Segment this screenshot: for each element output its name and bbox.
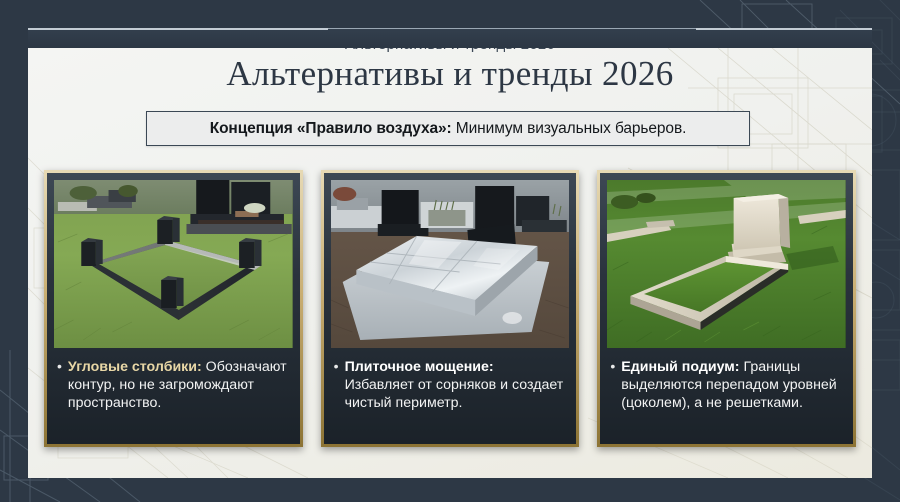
caption-text: Избавляет от сорняков и создает чистый п… [345, 377, 564, 411]
caption-body: Единый подиум: Границы выделяются перепа… [621, 358, 841, 413]
card-tiled-paving[interactable]: • Плиточное мощение: Избавляет от сорняк… [321, 170, 580, 447]
bullet-icon: • [57, 358, 62, 376]
slide-top-band [28, 28, 872, 48]
caption-lead: Плиточное мощение: [345, 359, 494, 375]
card-grid: • Угловые столбики: Обозначают контур, н… [44, 170, 856, 447]
slide-viewer: Альтернативы и тренды 2026 Альтернативы … [0, 0, 900, 502]
caption-lead: Угловые столбики: [68, 359, 202, 375]
caption-body: Угловые столбики: Обозначают контур, но … [68, 358, 288, 413]
concept-lead: Концепция «Правило воздуха»: [210, 120, 452, 137]
concept-callout-box: Концепция «Правило воздуха»: Минимум виз… [146, 111, 750, 146]
page-title: Альтернативы и тренды 2026 [28, 54, 872, 94]
photo-corner-posts [54, 180, 293, 348]
card-single-podium[interactable]: • Единый подиум: Границы выделяются пере… [597, 170, 856, 447]
caption-tiled-paving: • Плиточное мощение: Избавляет от сорняк… [324, 348, 577, 444]
bullet-icon: • [334, 358, 339, 376]
caption-lead: Единый подиум: [621, 359, 739, 375]
bullet-icon: • [610, 358, 615, 376]
caption-single-podium: • Единый подиум: Границы выделяются пере… [600, 348, 853, 444]
concept-rest: Минимум визуальных барьеров. [452, 120, 687, 137]
photo-tiled-paving [331, 180, 570, 348]
card-corner-posts[interactable]: • Угловые столбики: Обозначают контур, н… [44, 170, 303, 447]
concept-text: Концепция «Правило воздуха»: Минимум виз… [210, 120, 687, 138]
photo-single-podium [607, 180, 846, 348]
caption-corner-posts: • Угловые столбики: Обозначают контур, н… [47, 348, 300, 444]
caption-body: Плиточное мощение: Избавляет от сорняков… [345, 358, 565, 413]
slide-canvas: Альтернативы и тренды 2026 Альтернативы … [28, 48, 872, 478]
